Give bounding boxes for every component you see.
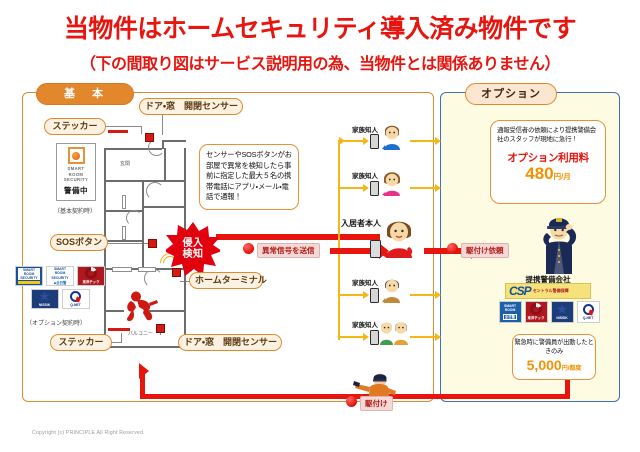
partner-logo-nissik: NISSIK (551, 301, 574, 323)
page-title: 当物件はホームセキュリティ導入済み物件です （下の間取り図はサービス説明用の為、… (0, 16, 640, 74)
price-note: 緊急時に警備員が出動したときのみ (513, 339, 595, 357)
tab-option: オプション (465, 83, 557, 105)
recipient-label-4: 家族知人 (352, 277, 378, 287)
recipient-phone-1 (370, 134, 379, 149)
price-unit: 円/都度 (562, 366, 582, 372)
dispatch-dot (346, 396, 357, 407)
burst-line1: 侵入 (183, 238, 204, 250)
room-label-entrance: 玄関 (120, 160, 130, 167)
sticker-smart-room-security: SMART ROOM SECURITY 警備中 (56, 143, 96, 201)
recipient-avatar-1 (381, 124, 403, 155)
logo-nissik-navy: NISSIK (31, 289, 59, 309)
copyright-text: Copyright (c) PRINCIPLE All Right Reserv… (32, 430, 145, 436)
option-fee-bubble: 通報受信者の依頼により提携警備会社のスタッフが現地に急行！ オプション利用料 4… (490, 120, 606, 204)
notify-return-2 (410, 187, 436, 189)
signal-dot-dispatch (447, 243, 458, 254)
poster-root: 当物件はホームセキュリティ導入済み物件です （下の間取り図はサービス説明用の為、… (0, 0, 640, 452)
nissik-star-icon (557, 304, 568, 315)
callout-text: センサーやSOSボタンがお部屋で異常を検知したら事前に指定した最大５名の携帯電話… (206, 150, 292, 203)
option-note: 通報受信者の依頼により提携警備会社のスタッフが現地に急行！ (497, 126, 599, 145)
label-sticker-top: ステッカー (44, 118, 106, 135)
signal-dot-abnormal (243, 243, 254, 254)
arrow-to-family-2 (340, 187, 364, 189)
recipient-label-2: 家族知人 (352, 170, 378, 180)
burst-line2: 検知 (183, 249, 204, 261)
arrow-to-family-4 (340, 294, 364, 296)
notify-return-1 (410, 140, 436, 142)
recipient-phone-4 (370, 288, 379, 303)
label-door-window-sensor-bottom: ドア・窓 開閉センサー (178, 334, 282, 351)
recipient-avatar-5 (379, 319, 409, 350)
q-net-mark-icon (583, 304, 594, 315)
door-sensor-entrance (145, 133, 154, 142)
csp-logo: CSP セントラル警備保障 (505, 283, 591, 299)
sos-button-device (148, 239, 157, 248)
nissik-star-icon (39, 291, 50, 302)
logo-toyo-tech-red: 東洋テック (77, 266, 105, 286)
recipient-label-1: 家族知人 (352, 124, 378, 134)
partner-logo-toyo-tech: 東洋テック (525, 301, 548, 323)
callout-sensor-description: センサーやSOSボタンがお部屋で異常を検知したら事前に指定した最大５名の携帯電話… (199, 144, 299, 210)
intrusion-detected-burst: 侵入 検知 (166, 222, 220, 276)
recipient-label-3: 入居者本人 (341, 218, 381, 229)
dispatch-price-bubble: 緊急時に警備員が出動したときのみ 5,000円/都度 (512, 334, 596, 380)
sensor-bar-balcony (108, 328, 130, 331)
partner-logo-zennikkei: SMARTROOM 全日警 (499, 301, 522, 323)
label-door-window-sensor-top: ドア・窓 開閉センサー (139, 98, 243, 115)
toyo-tech-mark-icon (85, 267, 97, 279)
partner-logo-grid: SMARTROOM 全日警 東洋テック NISSIK Q-NET (497, 301, 601, 323)
label-sticker-bottom: ステッカー (50, 334, 112, 351)
recipient-avatar-4 (381, 277, 403, 308)
notify-return-4 (410, 294, 436, 296)
option-fee-unit: 円/月 (554, 172, 571, 181)
title-main: 当物件はホームセキュリティ導入済み物件です (0, 16, 640, 44)
door-sensor-balcony (156, 324, 165, 333)
srs-logo-icon (68, 147, 85, 164)
room-label-balcony: バルコニー (128, 330, 153, 337)
resident-avatar (383, 218, 415, 263)
dispatch-line-from-option (565, 380, 570, 396)
label-abnormal-signal: 異常信号を送信 (257, 243, 320, 258)
label-dispatch-request: 駆付け依頼 (461, 243, 509, 258)
notify-bus-line (338, 140, 340, 340)
resident-phone (370, 240, 381, 258)
sticker-main-note: （基本契約時） (54, 206, 96, 215)
price-value: 5,000 (527, 357, 562, 373)
csp-mark-text: CSP (506, 284, 531, 298)
security-guard-icon (536, 212, 582, 274)
sticker-logo-grid: SMARTROOMSECURITY SMARTROOMSECURITY ◆全日警… (14, 266, 106, 312)
logo-smart-room-security-blue: SMARTROOMSECURITY (15, 266, 43, 286)
sensor-bar-entrance (108, 130, 128, 133)
partner-logo-q-net: Q-NET (577, 301, 600, 323)
tab-basic: 基 本 (36, 83, 134, 105)
srs-status: 警備中 (64, 185, 88, 196)
signal-line-to-resident (216, 234, 380, 240)
arrow-to-family-5 (340, 336, 364, 338)
recipient-phone-5 (370, 330, 379, 345)
q-net-mark-icon (70, 291, 81, 302)
logo-q-net: Q-NET (62, 289, 90, 309)
label-home-terminal: ホームターミナル (189, 272, 263, 289)
option-fee-label: オプション利用料 (497, 150, 599, 165)
toyo-tech-mark-icon (530, 303, 542, 315)
title-sub: （下の間取り図はサービス説明用の為、当物件とは関係ありません） (0, 50, 640, 74)
notify-return-5 (410, 336, 436, 338)
burglar-icon (125, 290, 159, 322)
srs-brand-line3: SECURITY (64, 177, 88, 183)
recipient-label-5: 家族知人 (352, 319, 378, 329)
sticker-grid-note: （オプション契約時） (26, 318, 86, 327)
csp-sub-text: セントラル警備保障 (531, 289, 569, 293)
recipient-avatar-2 (381, 170, 403, 201)
option-fee-value: 480 (525, 164, 553, 183)
logo-zennikkei-white: SMARTROOMSECURITY ◆全日警 (46, 266, 74, 286)
recipient-phone-2 (370, 181, 379, 196)
label-sos-button: SOSボタン (50, 234, 108, 251)
label-dispatch: 駆付け (360, 396, 393, 411)
